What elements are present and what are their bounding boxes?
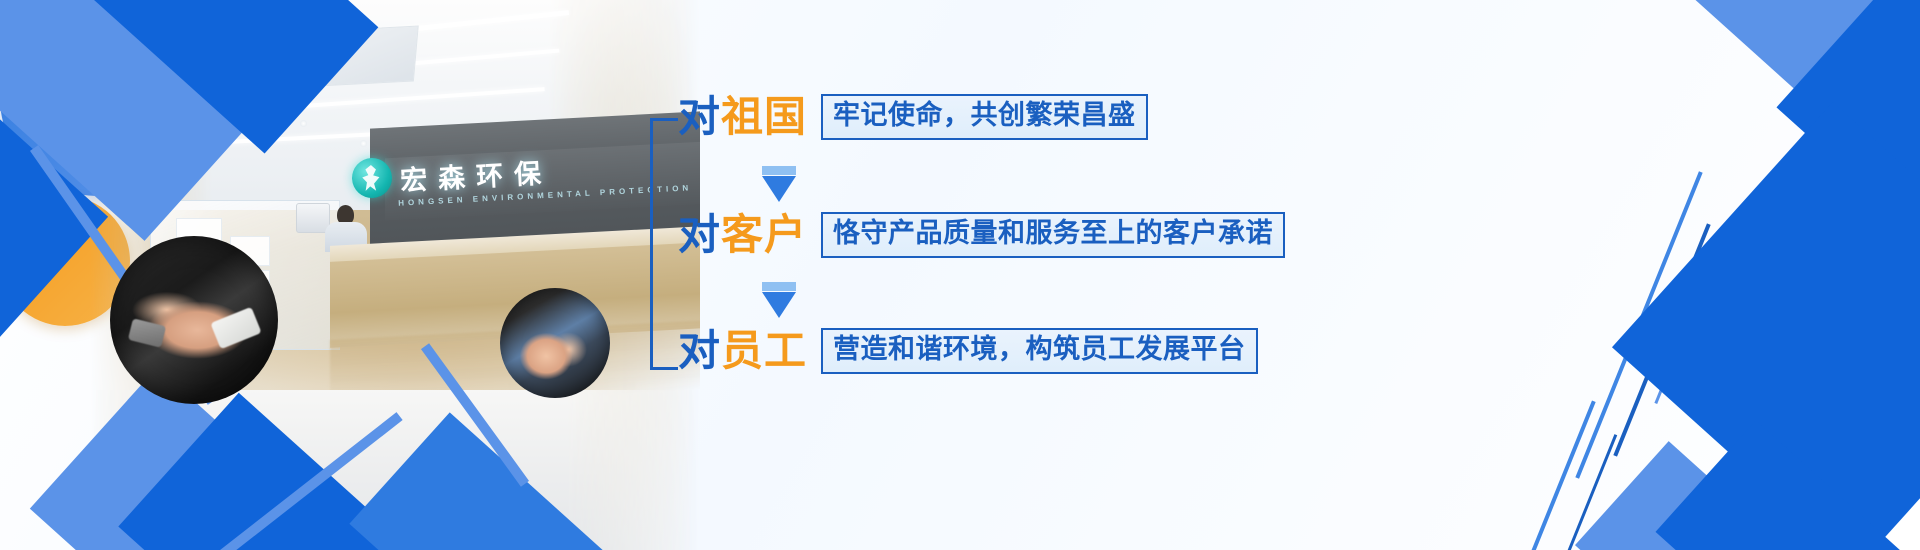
handshake-photo — [110, 236, 278, 404]
value-row-country: 对祖国 牢记使命，共创繁荣昌盛 — [678, 94, 1148, 140]
value-row-employee: 对员工 营造和谐环境，构筑员工发展平台 — [678, 328, 1258, 374]
decor-diagonal-line — [1528, 400, 1595, 550]
arrow-down-icon — [762, 166, 796, 202]
ceiling-spotlight — [360, 140, 367, 147]
arrow-bar — [762, 282, 796, 291]
value-lead-prefix: 对 — [678, 210, 721, 259]
arrow-triangle — [762, 292, 796, 318]
arrow-down-icon — [762, 282, 796, 318]
shirt-cuff — [128, 318, 166, 348]
ceiling-spotlight — [300, 120, 307, 127]
value-lead-subject: 祖国 — [721, 92, 807, 141]
values-list: 对祖国 牢记使命，共创繁荣昌盛 对客户 恪守产品质量和服务至上的客户承诺 对员工… — [650, 70, 1350, 400]
arrow-triangle — [762, 176, 796, 202]
value-lead-prefix: 对 — [678, 326, 721, 375]
applause-photo — [500, 288, 610, 398]
value-lead-subject: 客户 — [721, 210, 807, 259]
value-tag-country: 牢记使命，共创繁荣昌盛 — [821, 94, 1148, 140]
value-lead-employee: 对员工 — [678, 330, 807, 372]
value-lead-customer: 对客户 — [678, 214, 807, 256]
value-tag-customer: 恪守产品质量和服务至上的客户承诺 — [821, 212, 1285, 258]
value-lead-subject: 员工 — [721, 326, 807, 375]
company-values-banner: 宏森环保 HONGSEN ENVIRONMENTAL PROTECTION — [0, 0, 1920, 550]
value-tag-employee: 营造和谐环境，构筑员工发展平台 — [821, 328, 1258, 374]
arrow-bar — [762, 166, 796, 175]
value-lead-prefix: 对 — [678, 92, 721, 141]
value-lead-country: 对祖国 — [678, 96, 807, 138]
shirt-cuff — [210, 307, 261, 349]
value-row-customer: 对客户 恪守产品质量和服务至上的客户承诺 — [678, 212, 1285, 258]
bracket-connector — [650, 118, 678, 370]
